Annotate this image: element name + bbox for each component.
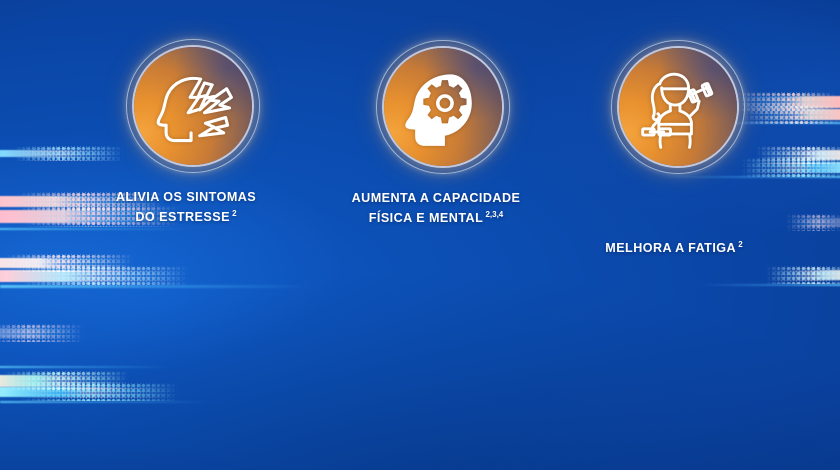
light-streak-left-4 xyxy=(0,228,190,230)
feature-caption-capacity: AUMENTA A CAPACIDADE FÍSICA E MENTAL 2,3… xyxy=(352,191,521,226)
caption-reference: 2,3,4 xyxy=(483,210,503,219)
light-streak-left-7 xyxy=(0,285,310,288)
feature-item-capacity[interactable]: AUMENTA A CAPACIDADE FÍSICA E MENTAL 2,3… xyxy=(340,40,532,226)
light-streak-left-12 xyxy=(0,401,210,403)
feature-badge-stress xyxy=(126,39,260,173)
light-streak-right-8 xyxy=(770,270,840,280)
caption-line-1: MELHORA A FATIGA xyxy=(605,241,736,255)
light-streak-right-5 xyxy=(745,162,840,173)
light-streak-left-8 xyxy=(0,328,80,338)
light-streak-right-2 xyxy=(748,109,840,120)
light-streak-left-6 xyxy=(0,270,185,282)
head-lightning-icon xyxy=(145,58,241,154)
light-streak-left-11 xyxy=(0,387,175,397)
caption-reference: 2 xyxy=(230,209,237,218)
promo-banner: ALIVIA OS SINTOMAS DO ESTRESSE 2 xyxy=(0,0,840,470)
feature-item-fatigue[interactable]: MELHORA A FATIGA 2 xyxy=(600,40,748,257)
feature-badge-capacity xyxy=(376,40,510,174)
light-streak-right-1 xyxy=(740,96,840,108)
caption-line-1: ALIVIA OS SINTOMAS xyxy=(116,190,256,206)
caption-reference: 2 xyxy=(736,240,743,249)
caption-line-2: DO ESTRESSE xyxy=(135,210,230,224)
light-streak-left-9 xyxy=(0,366,170,368)
caption-line-1: AUMENTA A CAPACIDADE xyxy=(352,191,521,207)
light-streak-left-1 xyxy=(0,150,120,157)
light-streak-left-5 xyxy=(0,258,130,268)
light-streak-right-4 xyxy=(760,150,840,160)
light-streak-right-7 xyxy=(790,218,840,227)
feature-item-stress[interactable]: ALIVIA OS SINTOMAS DO ESTRESSE 2 xyxy=(105,39,267,225)
feature-badge-fatigue xyxy=(611,40,745,174)
feature-caption-fatigue: MELHORA A FATIGA 2 xyxy=(605,237,742,257)
feature-caption-stress: ALIVIA OS SINTOMAS DO ESTRESSE 2 xyxy=(116,190,256,225)
woman-dumbbells-icon xyxy=(630,59,726,155)
head-gear-icon xyxy=(395,59,491,155)
light-streak-right-9 xyxy=(700,284,840,286)
light-streak-left-10 xyxy=(0,375,125,387)
caption-line-2: FÍSICA E MENTAL xyxy=(369,211,484,225)
